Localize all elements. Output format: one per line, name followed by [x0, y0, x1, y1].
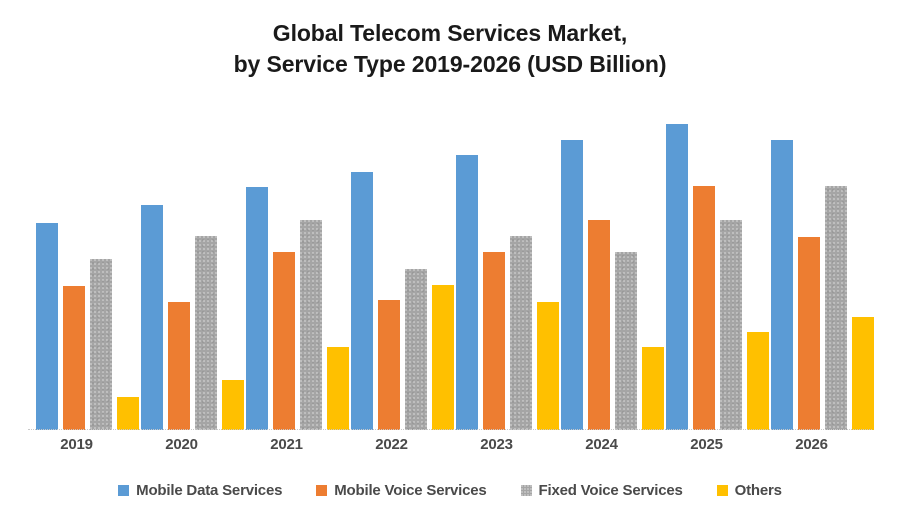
bar-2024-series-0[interactable]: [561, 140, 583, 430]
bar-group-2023: [456, 100, 561, 430]
x-tick-label-2025: 2025: [654, 436, 759, 453]
x-tick-label-2026: 2026: [759, 436, 864, 453]
bar-2019-series-2[interactable]: [90, 259, 112, 430]
legend-label-3: Others: [735, 482, 782, 499]
chart-legend: Mobile Data ServicesMobile Voice Service…: [0, 482, 900, 499]
bar-2023-series-2[interactable]: [510, 236, 532, 430]
bar-group-2021: [246, 100, 351, 430]
bar-2024-series-1[interactable]: [588, 220, 610, 430]
x-tick-label-2023: 2023: [444, 436, 549, 453]
bar-2023-series-3[interactable]: [537, 302, 559, 430]
x-tick-label-2019: 2019: [24, 436, 129, 453]
legend-label-2: Fixed Voice Services: [539, 482, 683, 499]
bar-2022-series-1[interactable]: [378, 300, 400, 430]
bar-2021-series-0[interactable]: [246, 187, 268, 430]
chart-container: Global Telecom Services Market, by Servi…: [0, 0, 900, 525]
bar-2021-series-2[interactable]: [300, 220, 322, 430]
x-tick-label-2020: 2020: [129, 436, 234, 453]
legend-item-3[interactable]: Others: [717, 482, 782, 499]
bar-2026-series-2[interactable]: [825, 186, 847, 430]
plot-area: [0, 100, 900, 430]
bar-group-2022: [351, 100, 456, 430]
x-tick-label-2021: 2021: [234, 436, 339, 453]
bar-group-2020: [141, 100, 246, 430]
bar-2023-series-1[interactable]: [483, 252, 505, 430]
x-tick-label-2022: 2022: [339, 436, 444, 453]
bar-2026-series-3[interactable]: [852, 317, 874, 430]
chart-title-line-1: Global Telecom Services Market,: [0, 18, 900, 49]
bar-2025-series-0[interactable]: [666, 124, 688, 430]
bar-2024-series-3[interactable]: [642, 347, 664, 430]
bar-2020-series-0[interactable]: [141, 205, 163, 430]
bar-group-2024: [561, 100, 666, 430]
legend-item-0[interactable]: Mobile Data Services: [118, 482, 282, 499]
bar-group-2019: [36, 100, 141, 430]
bar-2026-series-1[interactable]: [798, 237, 820, 430]
bar-2022-series-0[interactable]: [351, 172, 373, 430]
bar-2023-series-0[interactable]: [456, 155, 478, 430]
bar-2025-series-3[interactable]: [747, 332, 769, 430]
legend-label-0: Mobile Data Services: [136, 482, 282, 499]
x-axis-baseline: [28, 429, 872, 430]
bar-2019-series-1[interactable]: [63, 286, 85, 430]
bar-2021-series-3[interactable]: [327, 347, 349, 430]
bar-2021-series-1[interactable]: [273, 252, 295, 430]
x-axis-labels: 20192020202120222023202420252026: [0, 436, 900, 462]
chart-title-line-2: by Service Type 2019-2026 (USD Billion): [0, 49, 900, 80]
bar-2020-series-3[interactable]: [222, 380, 244, 430]
legend-swatch-orange: [316, 485, 327, 496]
bar-2020-series-1[interactable]: [168, 302, 190, 430]
bar-2026-series-0[interactable]: [771, 140, 793, 430]
bar-2025-series-2[interactable]: [720, 220, 742, 430]
legend-swatch-blue: [118, 485, 129, 496]
bar-2025-series-1[interactable]: [693, 186, 715, 430]
legend-item-1[interactable]: Mobile Voice Services: [316, 482, 486, 499]
bar-2019-series-3[interactable]: [117, 397, 139, 430]
bar-2022-series-2[interactable]: [405, 269, 427, 430]
legend-label-1: Mobile Voice Services: [334, 482, 486, 499]
bar-group-2026: [771, 100, 876, 430]
bar-2020-series-2[interactable]: [195, 236, 217, 430]
x-tick-label-2024: 2024: [549, 436, 654, 453]
bar-group-2025: [666, 100, 771, 430]
bar-2022-series-3[interactable]: [432, 285, 454, 430]
bar-2019-series-0[interactable]: [36, 223, 58, 430]
bar-2024-series-2[interactable]: [615, 252, 637, 430]
legend-swatch-yellow: [717, 485, 728, 496]
legend-swatch-gray: [521, 485, 532, 496]
legend-item-2[interactable]: Fixed Voice Services: [521, 482, 683, 499]
chart-title: Global Telecom Services Market, by Servi…: [0, 18, 900, 79]
